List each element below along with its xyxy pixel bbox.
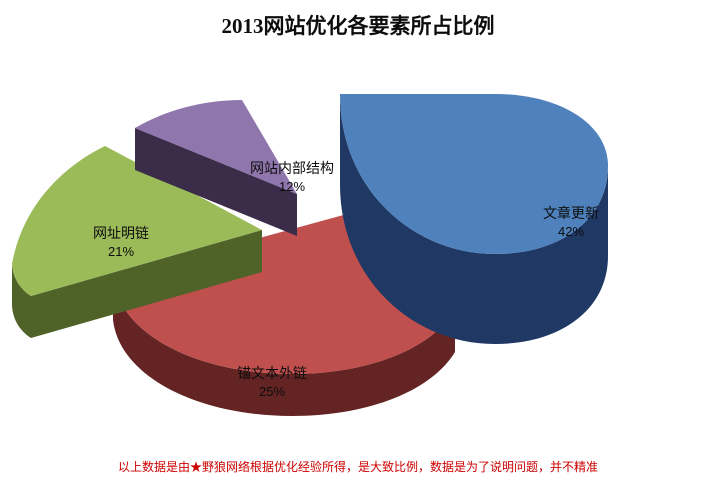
slice-label-anchor-text-links: 锚文本外链 25% [212,366,332,400]
slice-label-percent: 21% [66,244,176,260]
chart-title: 2013网站优化各要素所占比例 [0,10,716,40]
slice-label-name: 文章更新 [516,206,626,224]
pie-chart-figure: 2013网站优化各要素所占比例 [0,0,716,495]
slice-label-name: 网站内部结构 [232,161,352,179]
slice-label-article-update: 文章更新 42% [516,206,626,240]
slice-label-site-internal-structure: 网站内部结构 12% [232,161,352,195]
slice-label-percent: 12% [232,179,352,195]
chart-annotation: 以上数据是由★野狼网络根据优化经验所得，是大致比例，数据是为了说明问题，并不精准 [0,458,716,475]
slice-label-url-plain-links: 网址明链 21% [66,226,176,260]
slice-label-name: 锚文本外链 [212,366,332,384]
slice-label-percent: 42% [516,224,626,240]
slice-label-name: 网址明链 [66,226,176,244]
plot-area: 文章更新 42% 锚文本外链 25% 网址明链 21% 网站内部结构 12% [0,48,716,438]
slice-label-percent: 25% [212,384,332,400]
